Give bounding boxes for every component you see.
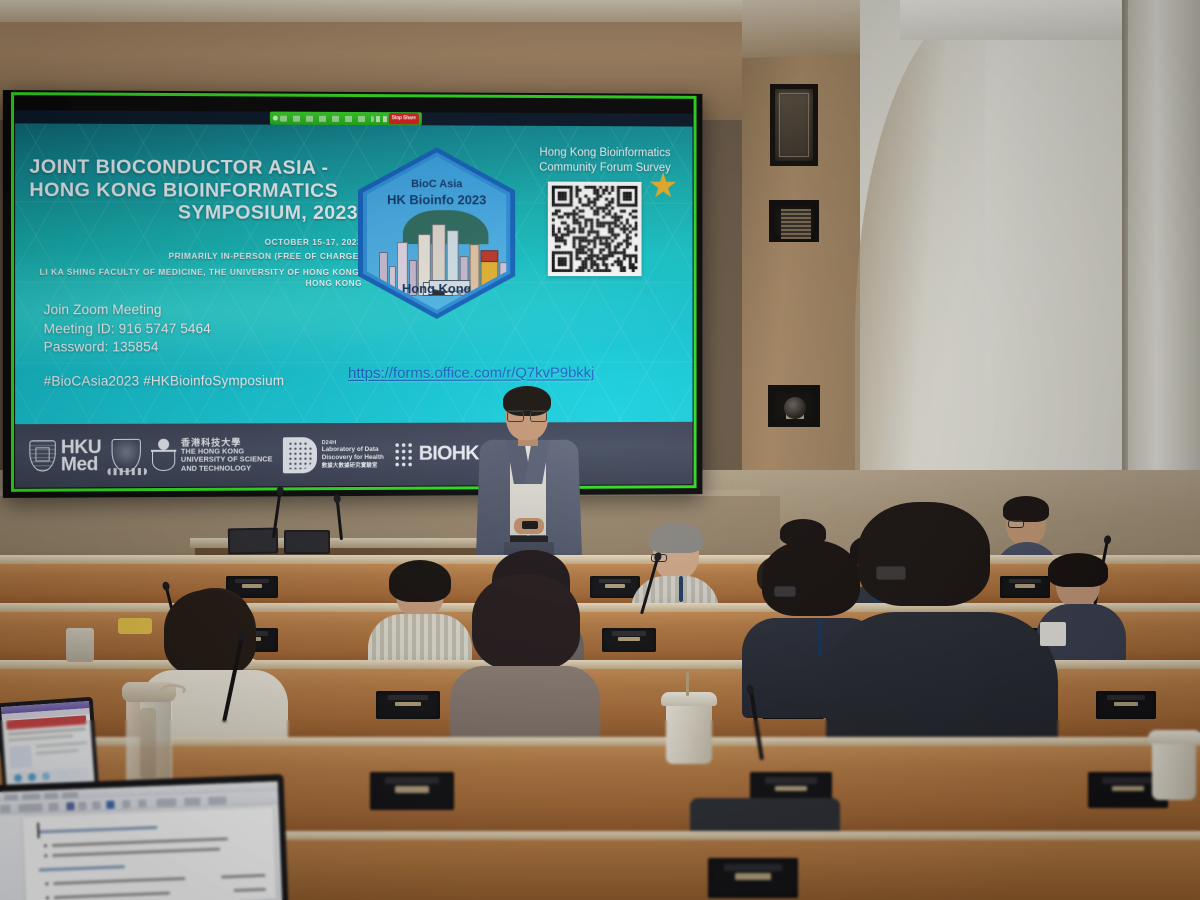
laptop-primary[interactable] [0,774,288,900]
d24h-icon [283,437,317,473]
coffee-cup-lid [1148,730,1200,744]
d24h-en-1: Laboratory of Data [322,446,384,454]
desk-socket-panel[interactable] [370,772,454,810]
zoom-join-label: Join Zoom Meeting [44,301,211,320]
hku-line-2: Med [61,456,101,473]
slide-dates: OCTOBER 15-17, 2023 [29,237,362,247]
zoom-share-toolbar[interactable]: Stop Share [270,112,422,126]
coffee-cup-lid [661,692,717,706]
zoom-mute-icon [376,116,380,122]
wall-window-panel [770,84,818,166]
logo-cuhk [111,439,140,472]
bioc-asia-badge: BioC Asia HK Bioinfo 2023 Hong Kong [358,147,515,319]
logo-hkust: 香港科技大學 THE HONG KONG UNIVERSITY OF SCIEN… [151,437,273,473]
attendee-glasses-icon [876,566,906,580]
biohk-dots-icon [394,441,414,467]
slide-venue-line-2: HONG KONG [25,279,362,288]
cuhk-crest-icon [111,439,140,472]
bottle-small [66,628,94,662]
yellow-item-on-desk [118,618,152,634]
survey-heading: Hong Kong Bioinformatics Community Forum… [517,146,692,175]
title-line-1: JOINT BIOCONDUCTOR ASIA - [29,156,362,180]
ceiling-projector-unit [768,385,820,427]
laptop-primary-screen [0,781,282,900]
tissue-box [1040,622,1066,646]
slide-title: JOINT BIOCONDUCTOR ASIA - HONG KONG BIOI… [29,156,362,225]
logo-hku-med: HKU Med [29,439,101,474]
desk-socket-panel[interactable] [1096,691,1156,719]
laptop-secondary-screen [1,701,95,794]
lecture-hall-photo: Stop Share JOINT BIOCONDUCTOR ASIA - HON… [0,0,1200,900]
zoom-meeting-id: Meeting ID: 916 5747 5464 [44,320,211,339]
projection-screen: Stop Share JOINT BIOCONDUCTOR ASIA - HON… [3,90,703,498]
zoom-status-dot [273,116,278,121]
attendee-glasses-icon [774,586,796,597]
presenter [470,390,590,575]
desk-socket-panel[interactable] [708,858,798,898]
stop-share-button[interactable]: Stop Share [389,113,419,124]
title-line-3: SYMPOSIUM, 2023 [29,201,362,224]
attendee-lanyard [679,576,683,602]
d24h-cn: 數據大數據研究實驗室 [322,461,384,469]
desk-socket-panel[interactable] [376,691,440,719]
presenter-glasses-icon [507,410,547,419]
ceiling-lip [0,0,800,22]
water-bottle-contents [140,708,156,778]
desk-socket-panel[interactable] [1000,576,1050,598]
survey-heading-line-2: Community Forum Survey [517,160,692,175]
water-bottle-handle [160,684,186,696]
podium-monitor-1 [228,528,278,555]
zoom-meeting-info: Join Zoom Meeting Meeting ID: 916 5747 5… [44,301,211,357]
presentation-clicker [522,521,538,529]
sponsor-logo-bar: HKU Med 香港科技大學 THE HONG KONG [15,422,693,488]
desk-socket-panel[interactable] [590,576,640,598]
zoom-toolbar-icons[interactable] [376,116,387,122]
hku-crest-icon [29,440,55,471]
wall-speaker-grille [769,200,819,242]
survey-url-link[interactable]: https://forms.office.com/r/Q7kvP9bkkj [348,365,594,382]
coffee-stirrer [686,672,689,696]
document-page [23,808,276,900]
slide-venue-line-1: LI KA SHING FACULTY OF MEDICINE, THE UNI… [25,268,362,277]
podium-monitor-2 [284,530,330,554]
logo-biohk: BIOHK [394,441,479,467]
attendee-glasses-icon [1008,520,1024,528]
zoom-video-icon [383,116,387,122]
zoom-toolbar-controls[interactable] [280,115,374,121]
zoom-password: Password: 135854 [44,338,211,357]
coffee-cup [1152,738,1196,800]
survey-qr-code[interactable] [548,182,642,277]
slide-format: PRIMARILY IN-PERSON (FREE OF CHARGE) [29,252,362,261]
logo-d24h: D24H Laboratory of Data Discovery for He… [283,436,384,472]
slide-hashtags: #BioCAsia2023 #HKBioinfoSymposium [44,373,285,389]
coffee-cup [666,700,712,764]
badge-line-2: HK Bioinfo 2023 [367,192,506,207]
conference-slide: JOINT BIOCONDUCTOR ASIA - HONG KONG BIOI… [15,123,693,487]
title-line-2: HONG KONG BIOINFORMATICS [29,178,362,202]
survey-heading-line-1: Hong Kong Bioinformatics [517,146,692,161]
hkust-en-3: AND TECHNOLOGY [181,464,273,473]
hkust-icon [151,439,176,472]
attendee-lanyard [818,618,822,656]
desk-socket-panel[interactable] [602,628,656,652]
slide-main-panel: JOINT BIOCONDUCTOR ASIA - HONG KONG BIOI… [15,123,693,424]
